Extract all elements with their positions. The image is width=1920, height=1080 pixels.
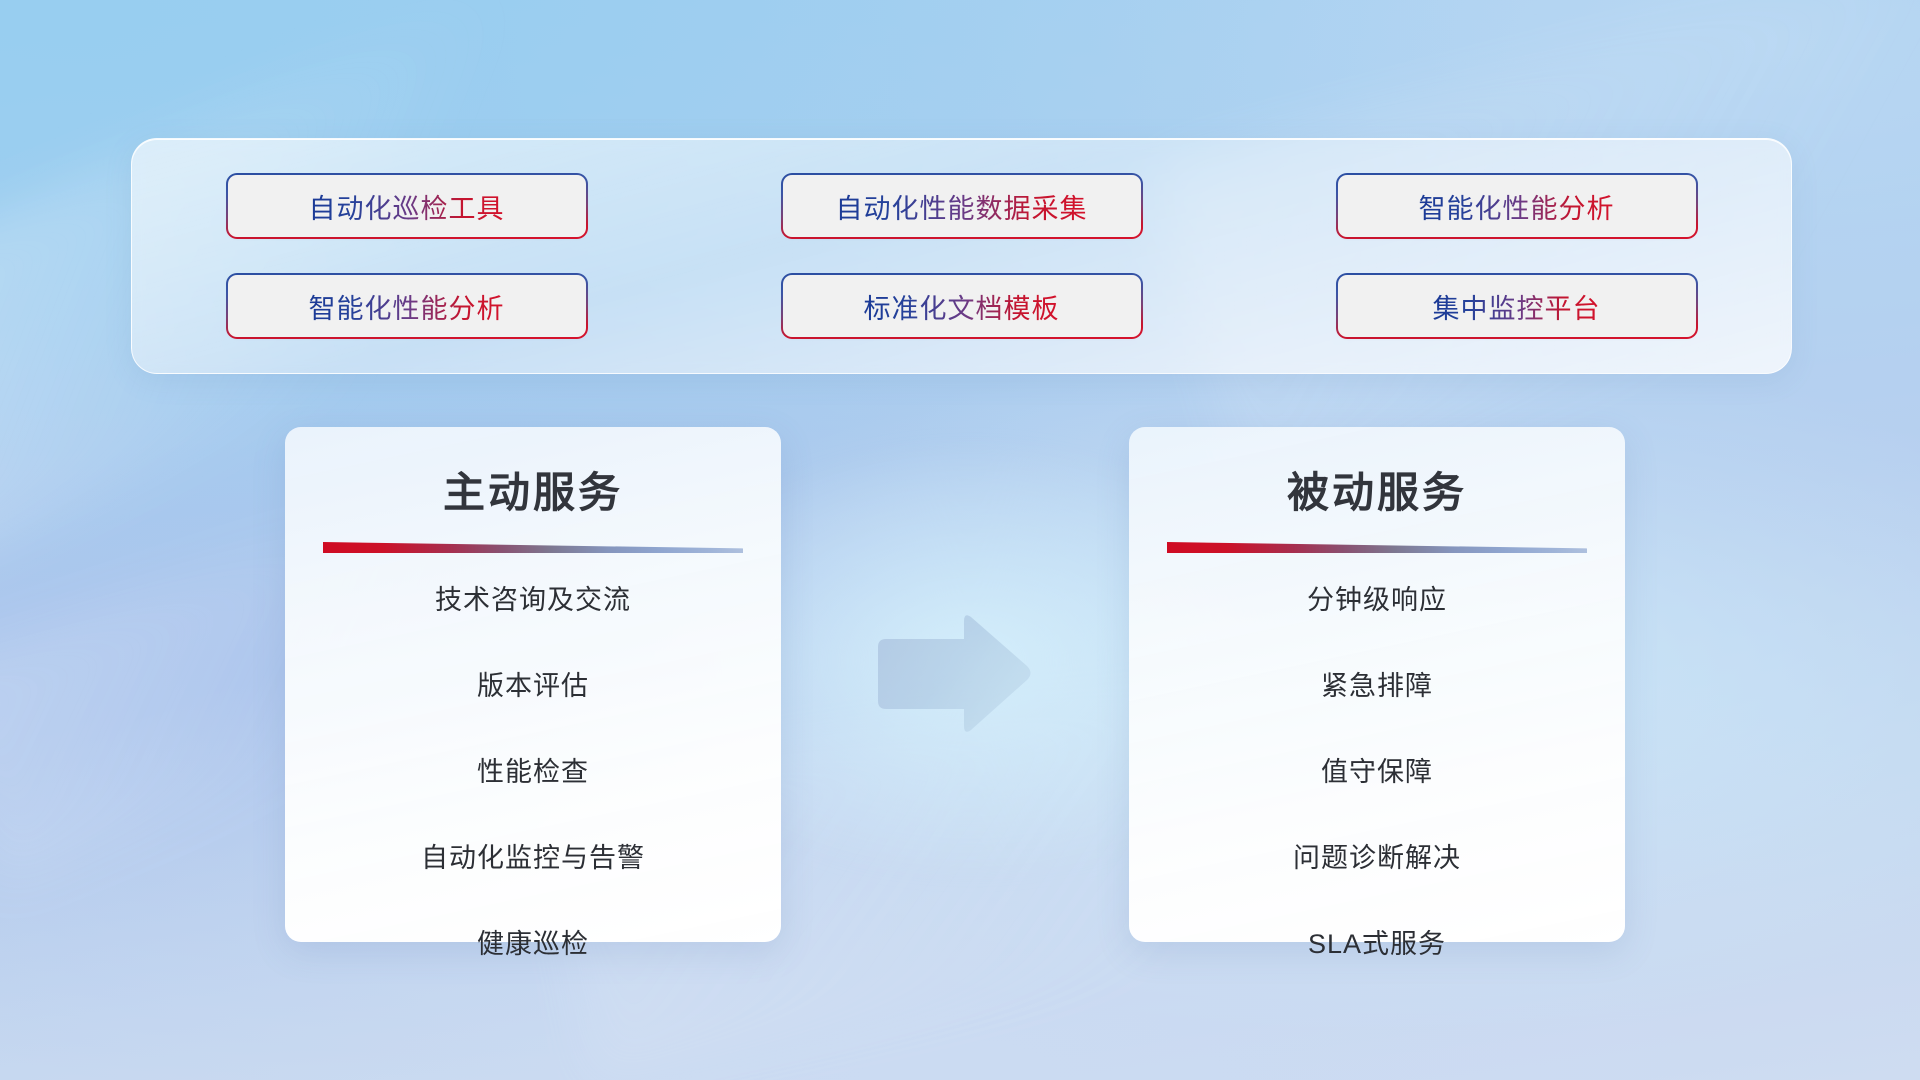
- card-title: 被动服务: [1129, 459, 1625, 520]
- capability-tag-6[interactable]: 集中监控平台: [1338, 275, 1696, 337]
- card-title-divider: [323, 542, 743, 553]
- capability-tag-2[interactable]: 自动化性能数据采集: [783, 175, 1141, 237]
- capability-tag-label: 自动化性能数据采集: [836, 187, 1088, 226]
- service-item-list: 技术咨询及交流 版本评估 性能检查 自动化监控与告警 健康巡检: [285, 587, 781, 958]
- card-title: 主动服务: [285, 459, 781, 520]
- capability-tag-grid: 自动化巡检工具 自动化性能数据采集 智能化性能分析 智能化性能分析 标准化文档模…: [228, 175, 1696, 337]
- list-item: 问题诊断解决: [1129, 845, 1625, 872]
- list-item: 性能检查: [285, 759, 781, 786]
- list-item: 版本评估: [285, 673, 781, 700]
- capability-tag-5[interactable]: 标准化文档模板: [783, 275, 1141, 337]
- list-item: 紧急排障: [1129, 673, 1625, 700]
- list-item: 分钟级响应: [1129, 587, 1625, 614]
- divider-bar: [1167, 542, 1587, 553]
- list-item: SLA式服务: [1129, 931, 1625, 958]
- list-item: 健康巡检: [285, 931, 781, 958]
- card-title-divider: [1167, 542, 1587, 553]
- capability-tag-1[interactable]: 自动化巡检工具: [228, 175, 586, 237]
- capability-tag-label: 智能化性能分析: [1419, 187, 1615, 226]
- slide-canvas: 自动化巡检工具 自动化性能数据采集 智能化性能分析 智能化性能分析 标准化文档模…: [0, 0, 1920, 1080]
- list-item: 值守保障: [1129, 759, 1625, 786]
- arrow-right-icon: [872, 611, 1034, 737]
- capability-panel: 自动化巡检工具 自动化性能数据采集 智能化性能分析 智能化性能分析 标准化文档模…: [131, 138, 1792, 374]
- capability-tag-3[interactable]: 智能化性能分析: [1338, 175, 1696, 237]
- service-card-reactive[interactable]: 被动服务 分钟级响应 紧急排障 值守保障 问题诊断解决 SLA式服务: [1129, 427, 1625, 942]
- divider-bar: [323, 542, 743, 553]
- capability-tag-4[interactable]: 智能化性能分析: [228, 275, 586, 337]
- capability-tag-label: 智能化性能分析: [309, 287, 505, 326]
- service-item-list: 分钟级响应 紧急排障 值守保障 问题诊断解决 SLA式服务: [1129, 587, 1625, 958]
- capability-tag-label: 集中监控平台: [1433, 287, 1601, 326]
- capability-tag-label: 自动化巡检工具: [309, 187, 505, 226]
- capability-tag-label: 标准化文档模板: [864, 287, 1060, 326]
- service-card-proactive[interactable]: 主动服务 技术咨询及交流 版本评估 性能检查 自动化监控与告警 健康巡检: [285, 427, 781, 942]
- list-item: 自动化监控与告警: [285, 845, 781, 872]
- list-item: 技术咨询及交流: [285, 587, 781, 614]
